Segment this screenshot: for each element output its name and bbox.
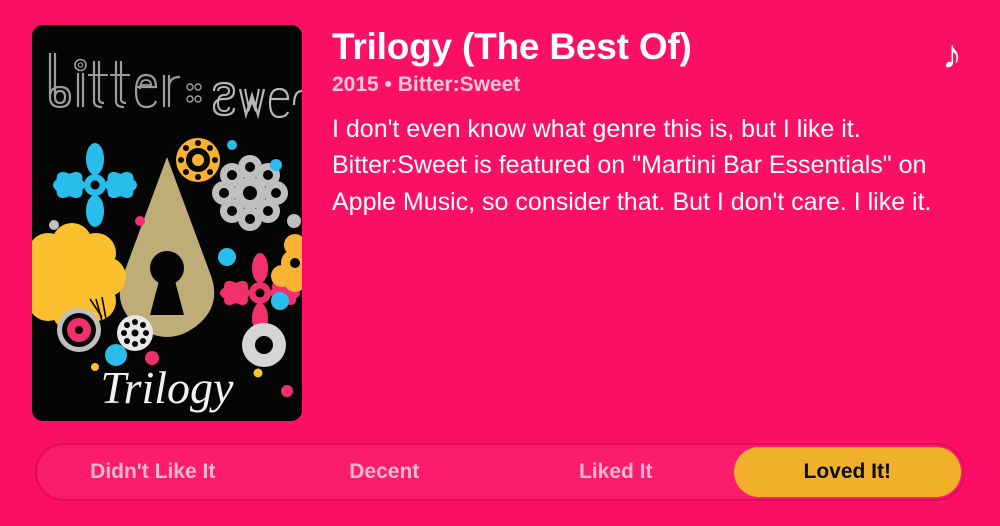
music-note-icon[interactable]: ♪ — [932, 32, 972, 78]
rating-selector[interactable]: Didn't Like It Decent Liked It Loved It! — [35, 443, 965, 501]
album-cover-illustration: Trilogy — [32, 25, 302, 421]
album-cover-art[interactable]: Trilogy — [32, 25, 302, 421]
album-subtitle: 2015 • Bitter:Sweet — [332, 72, 932, 97]
rating-option-decent[interactable]: Decent — [271, 447, 499, 497]
album-title: Trilogy (The Best Of) — [332, 26, 932, 67]
album-info: Trilogy (The Best Of) 2015 • Bitter:Swee… — [332, 26, 932, 220]
album-description: I don't even know what genre this is, bu… — [332, 111, 957, 221]
rating-option-liked-it[interactable]: Liked It — [502, 447, 730, 497]
album-rating-screen: Trilogy Trilogy (The Best Of) 2015 • Bit… — [0, 0, 1000, 526]
rating-option-loved-it[interactable]: Loved It! — [734, 447, 962, 497]
cover-script-title: Trilogy — [101, 362, 235, 413]
rating-option-didnt-like-it[interactable]: Didn't Like It — [39, 447, 267, 497]
